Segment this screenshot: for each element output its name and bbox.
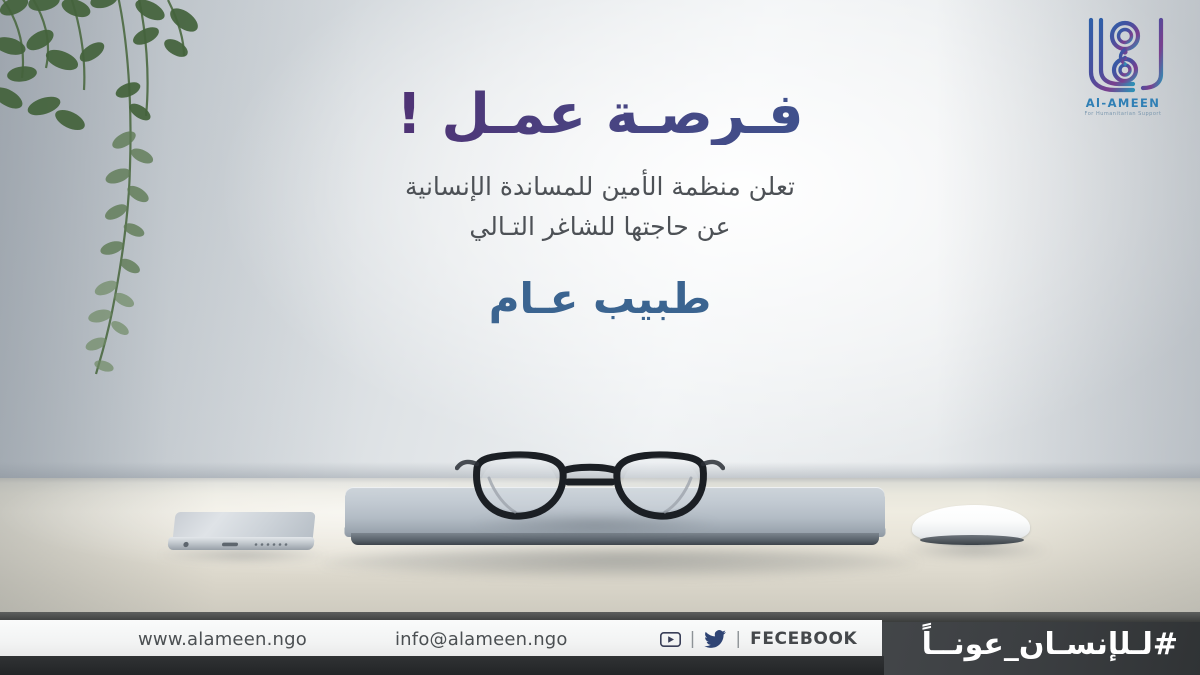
- footer-contact-bar: www.alameen.ngo info@alameen.ngo | | FEC…: [0, 620, 882, 658]
- al-ameen-monogram-icon: [1075, 14, 1171, 94]
- social-links: | | FECEBOOK: [660, 629, 858, 649]
- facebook-label[interactable]: FECEBOOK: [750, 629, 857, 649]
- job-title: طبيب عـام: [0, 274, 1200, 323]
- announcement-line-1: تعلن منظمة الأمين للمساندة الإنسانية: [0, 167, 1200, 208]
- youtube-icon[interactable]: [660, 632, 681, 647]
- mouse-base: [920, 535, 1024, 545]
- campaign-hashtag: #لـلإنسـان_عونــاً: [922, 618, 1178, 670]
- footer-bottom-edge: [0, 656, 884, 675]
- social-separator-2: |: [735, 629, 741, 649]
- phone-ports-icon: [182, 541, 307, 548]
- eyeglasses-icon: [455, 438, 725, 533]
- computer-mouse: [912, 505, 1030, 551]
- logo-name: Al-AMEEN: [1064, 96, 1182, 110]
- email-link[interactable]: info@alameen.ngo: [395, 629, 568, 650]
- twitter-bird-icon[interactable]: [704, 630, 726, 648]
- smartphone: [168, 512, 316, 552]
- announcement-line-2: عن حاجتها للشاغر التـالي: [0, 207, 1200, 248]
- website-link[interactable]: www.alameen.ngo: [138, 629, 307, 650]
- announcement-text-block: فـرصـة عمـل ! تعلن منظمة الأمين للمساندة…: [0, 86, 1200, 323]
- job-vacancy-poster: فـرصـة عمـل ! تعلن منظمة الأمين للمساندة…: [0, 0, 1200, 675]
- logo-tagline: For Humanitarian Support: [1064, 111, 1182, 117]
- organization-logo: Al-AMEEN For Humanitarian Support: [1064, 14, 1182, 126]
- announcement-body: تعلن منظمة الأمين للمساندة الإنسانية عن …: [0, 167, 1200, 248]
- page-title: فـرصـة عمـل !: [0, 86, 1200, 145]
- social-separator-1: |: [690, 629, 696, 649]
